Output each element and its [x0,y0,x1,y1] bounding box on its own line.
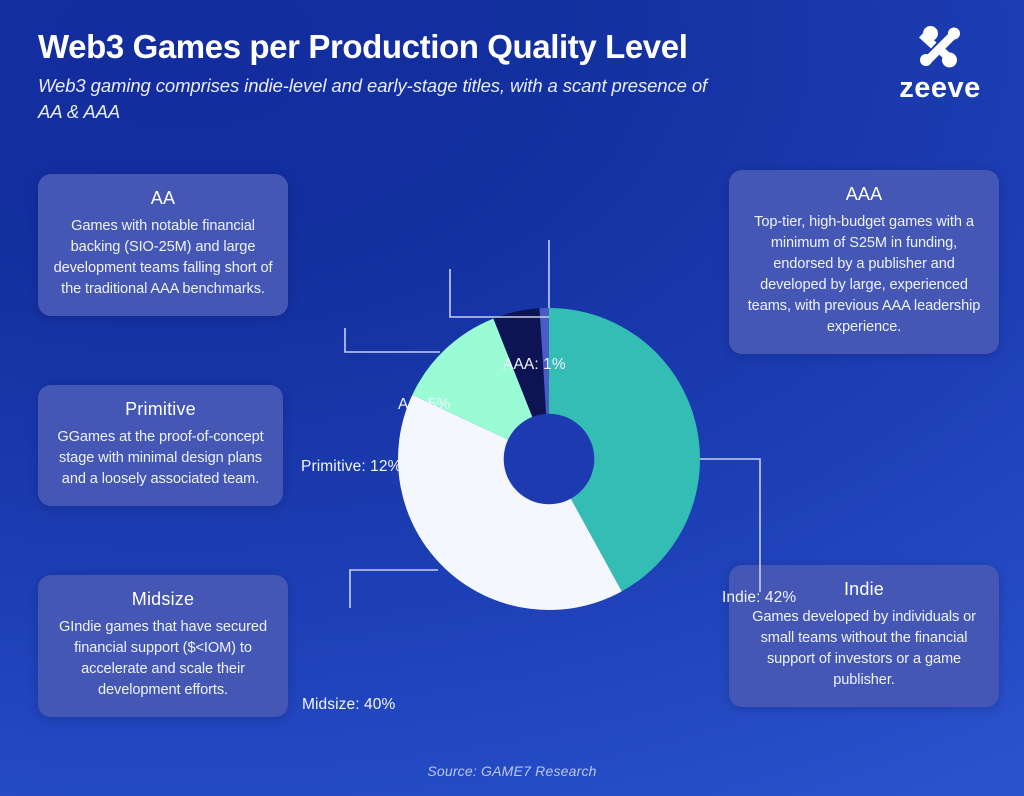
slice-label-primitive: Primitive: 12% [301,458,401,476]
leader-line-indie [700,459,760,592]
leader-line-midsize [350,570,438,608]
brand-logo: zeeve [880,24,1000,108]
donut-chart [0,140,1024,760]
slice-label-indie: Indie: 42% [722,589,796,607]
page-subtitle: Web3 gaming comprises indie-level and ea… [38,73,728,125]
slice-label-midsize: Midsize: 40% [302,696,395,714]
donut-center-hole [504,414,595,505]
header: Web3 Games per Production Quality Level … [0,0,1024,150]
brand-wordmark: zeeve [880,74,1000,103]
source-note: Source: GAME7 Research [0,763,1024,779]
slice-label-aa: AA: 5% [398,396,450,414]
page-title: Web3 Games per Production Quality Level [38,28,687,66]
slice-label-aaa: AAA: 1% [503,356,566,374]
donut-chart-area: AAA: 1% AA: 5% Primitive: 12% Midsize: 4… [0,140,1024,760]
leader-line-primitive [345,328,440,352]
zeeve-logo-icon [912,24,968,70]
